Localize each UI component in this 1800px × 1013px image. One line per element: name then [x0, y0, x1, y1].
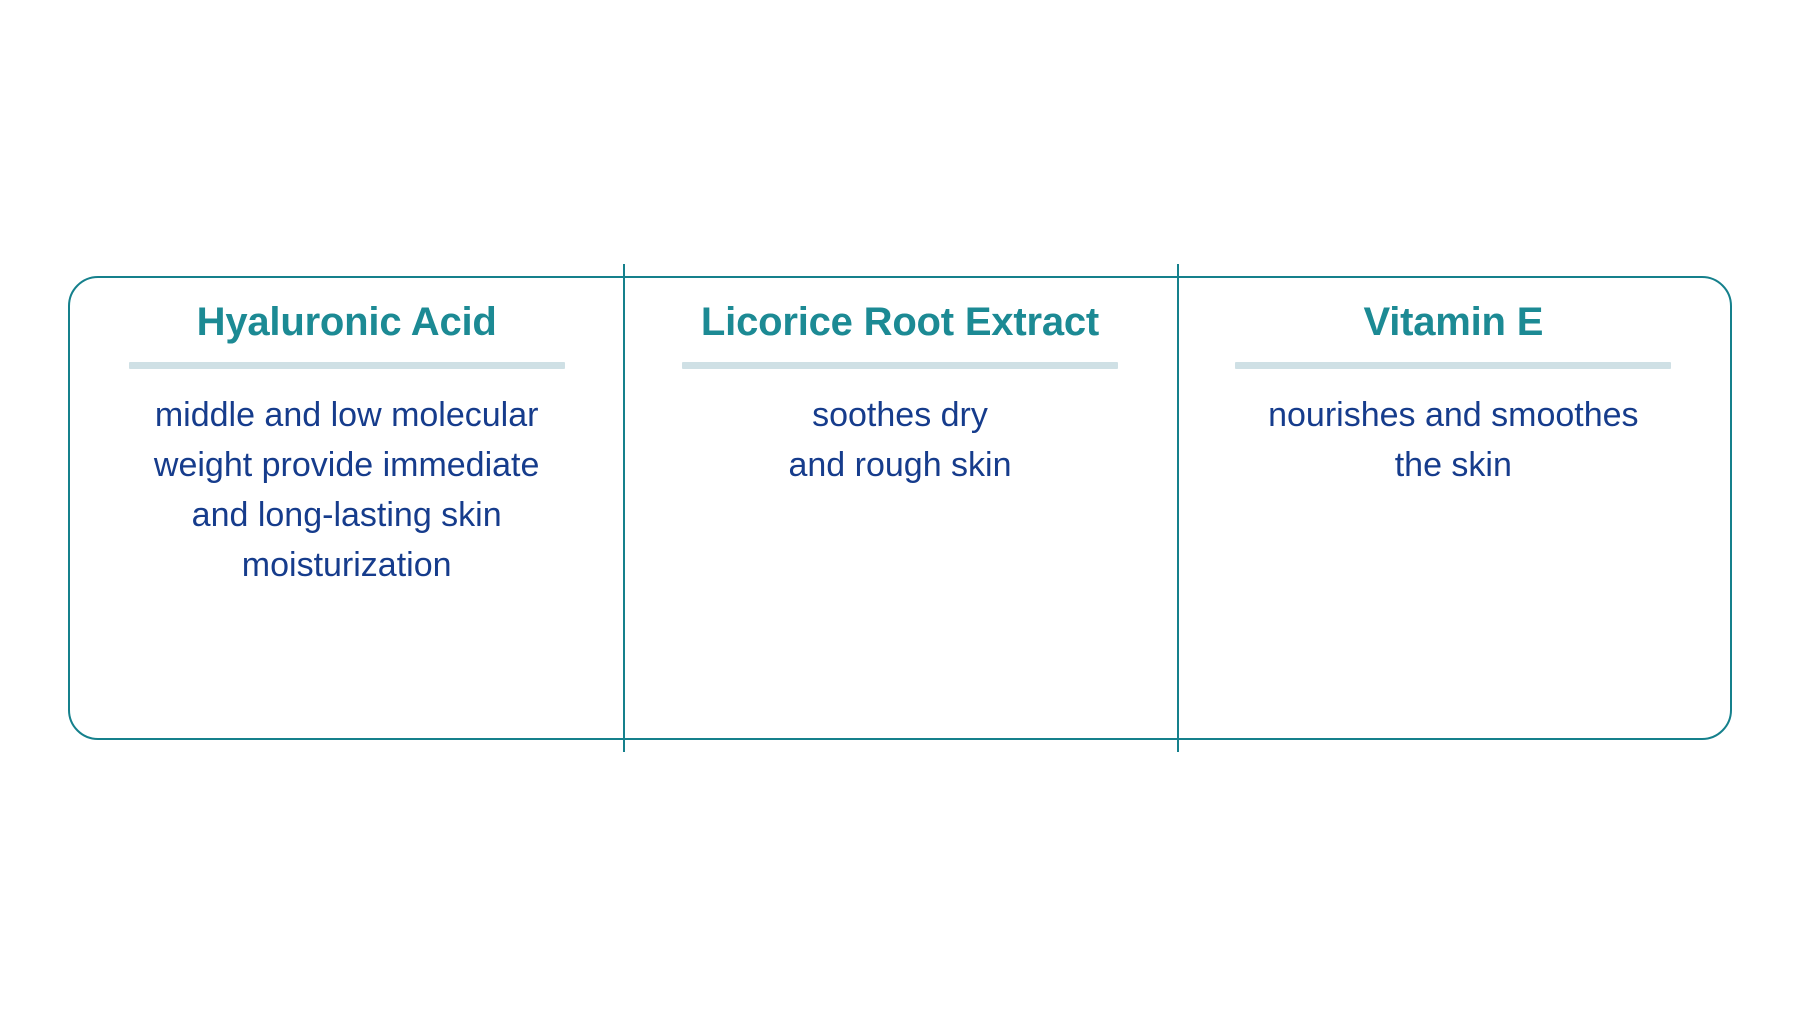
description-line: moisturization [154, 541, 540, 591]
description-line: nourishes and smoothes [1268, 391, 1638, 441]
ingredient-description: middle and low molecular weight provide … [154, 391, 540, 591]
page-canvas: Hyaluronic Acid middle and low molecular… [0, 0, 1800, 1013]
ingredient-title: Vitamin E [1363, 300, 1543, 345]
ingredients-card: Hyaluronic Acid middle and low molecular… [68, 276, 1732, 740]
description-line: weight provide immediate [154, 441, 540, 491]
title-underline-rule [1235, 362, 1671, 369]
description-line: middle and low molecular [154, 391, 540, 441]
title-underline-rule [682, 362, 1118, 369]
description-line: soothes dry [788, 391, 1011, 441]
ingredient-title: Licorice Root Extract [701, 300, 1099, 345]
ingredient-description: soothes dry and rough skin [788, 391, 1011, 491]
description-line: the skin [1268, 441, 1638, 491]
ingredient-description: nourishes and smoothes the skin [1268, 391, 1638, 491]
ingredient-title: Hyaluronic Acid [197, 300, 497, 345]
description-line: and rough skin [788, 441, 1011, 491]
title-underline-rule [129, 362, 565, 369]
description-line: and long-lasting skin [154, 491, 540, 541]
ingredient-column-licorice-root-extract: Licorice Root Extract soothes dry and ro… [623, 278, 1176, 738]
ingredient-column-hyaluronic-acid: Hyaluronic Acid middle and low molecular… [70, 278, 623, 738]
ingredient-column-vitamin-e: Vitamin E nourishes and smoothes the ski… [1177, 278, 1730, 738]
